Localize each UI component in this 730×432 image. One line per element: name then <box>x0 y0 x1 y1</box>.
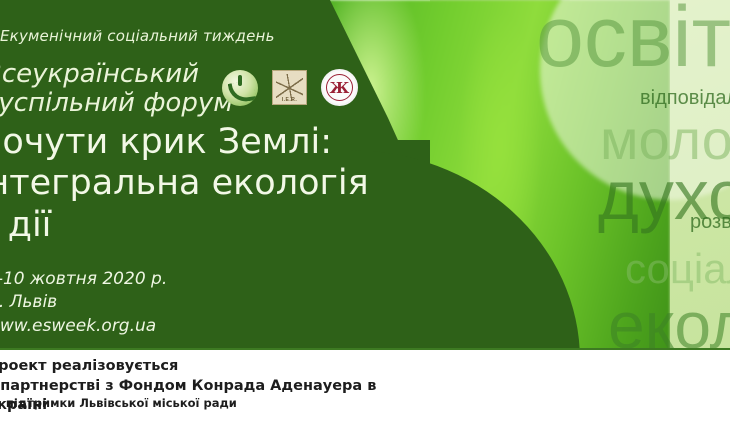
headline-line1: Почути крик Землі: <box>0 122 416 163</box>
poster-footer: Проект реалізовується в партнерстві з Фо… <box>0 348 730 432</box>
forum-title: Всеукраїнський суспільний форум <box>0 60 234 118</box>
page-title: Почути крик Землі: Інтегральна екологія … <box>0 122 416 246</box>
wordcloud-rozvytok: розвиток <box>690 212 730 232</box>
wordcloud-socialnist: соціальність <box>625 248 730 290</box>
partnership-line1: Проект реалізовується <box>0 357 406 377</box>
organiser-logos: I.E.R. Ж <box>222 69 358 106</box>
event-website[interactable]: www.esweek.org.ua <box>0 315 286 338</box>
event-details: 5-10 жовтня 2020 р. м. Львів www.esweek.… <box>0 268 286 338</box>
green-hands-circle-logo <box>222 70 258 106</box>
crimson-emblem-circle-logo: Ж <box>321 69 358 106</box>
square-logo-mark: I.E.R. <box>273 97 306 103</box>
wordcloud-vidpovidalnist: відповідальність <box>640 88 730 108</box>
event-date: 5-10 жовтня 2020 р. <box>0 268 286 291</box>
event-poster: освіта відповідальність молодь духовніст… <box>0 0 730 432</box>
headline-line2: Інтегральна екологія <box>0 163 416 204</box>
support-text: За підтримки Львівської міської ради <box>0 396 276 410</box>
forum-title-line2: суспільний форум <box>0 89 234 118</box>
headline-line3: в дії <box>0 205 416 246</box>
forum-title-line1: Всеукраїнський <box>0 60 234 89</box>
wordcloud-osvita: освіта <box>536 0 730 80</box>
event-kicker: Екуменічний соціальний тиждень <box>0 27 330 45</box>
ucu-institute-square-logo: I.E.R. <box>272 70 307 105</box>
footer-divider <box>0 348 730 350</box>
event-city: м. Львів <box>0 291 286 314</box>
emblem-glyph: Ж <box>323 71 356 104</box>
